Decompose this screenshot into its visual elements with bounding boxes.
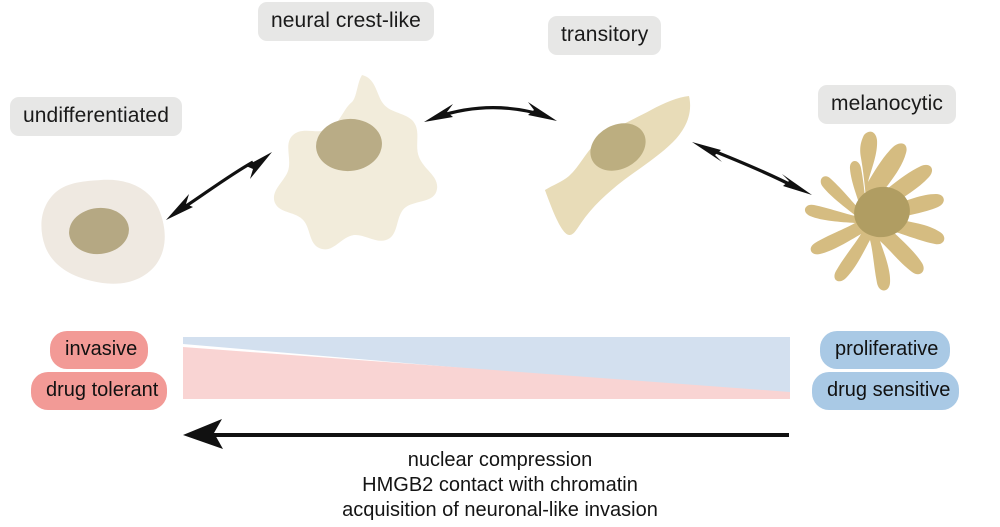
arrowhead-right-icon [782, 174, 812, 195]
state-label-neural-crest-like[interactable]: neural crest-like [258, 2, 434, 41]
trait-label-text: drug tolerant [46, 379, 158, 401]
trait-label-text: drug sensitive [827, 379, 950, 401]
pink-wedge [183, 347, 790, 399]
process-caption: nuclear compression HMGB2 contact with c… [0, 448, 1000, 523]
left-arrow-icon [183, 419, 223, 449]
blobby-cell-icon [274, 75, 437, 249]
state-label-transitory[interactable]: transitory [548, 16, 661, 55]
dendritic-cell-icon [805, 132, 944, 291]
process-arrow [183, 419, 789, 449]
arrowhead-left-icon [424, 104, 453, 122]
trait-pill-proliferative[interactable]: proliferative [820, 331, 950, 369]
nucleus-icon [314, 116, 384, 174]
trait-pill-invasive[interactable]: invasive [50, 331, 148, 369]
caption-line-3: acquisition of neuronal-like invasion [0, 498, 1000, 523]
trait-label-text: invasive [65, 338, 137, 360]
arrowhead-right-icon [246, 152, 272, 179]
state-label-text: undifferentiated [23, 104, 169, 127]
cell-transitory [545, 96, 690, 235]
arrow-neural-crest-transitory [424, 102, 557, 122]
double-headed-arrow-icon [177, 162, 253, 212]
state-label-text: melanocytic [831, 92, 943, 115]
arrowhead-right-icon [528, 102, 557, 121]
trait-pill-drug-sensitive[interactable]: drug sensitive [812, 372, 959, 410]
state-label-text: neural crest-like [271, 9, 421, 32]
spindle-cell-icon [545, 96, 690, 235]
spindle-cell-tail-icon [545, 190, 594, 233]
state-label-undifferentiated[interactable]: undifferentiated [10, 97, 182, 136]
caption-line-1: nuclear compression [0, 448, 1000, 473]
arrow-undifferentiated-neural-crest [166, 152, 272, 220]
arrowhead-left-icon [166, 194, 193, 220]
cell-neural-crest-like [274, 75, 437, 249]
blue-wedge [183, 337, 790, 396]
caption-line-2: HMGB2 contact with chromatin [0, 473, 1000, 498]
nucleus-icon [582, 114, 654, 180]
arrowhead-left-icon [692, 142, 722, 162]
nucleus-icon [849, 182, 914, 243]
arrow-transitory-melanocytic [692, 142, 812, 195]
nucleus-icon [67, 205, 131, 257]
double-headed-arrow-icon [706, 148, 797, 188]
round-cell-icon [41, 180, 164, 284]
phenotype-plasticity-figure: undifferentiated neural crest-like trans… [0, 0, 1000, 527]
state-label-melanocytic[interactable]: melanocytic [818, 85, 956, 124]
trait-pill-drug-tolerant[interactable]: drug tolerant [31, 372, 167, 410]
trait-label-text: proliferative [835, 338, 938, 360]
cell-melanocytic [805, 132, 944, 291]
cell-undifferentiated [41, 180, 164, 284]
double-headed-arrow-icon [437, 108, 543, 117]
state-label-text: transitory [561, 23, 648, 46]
